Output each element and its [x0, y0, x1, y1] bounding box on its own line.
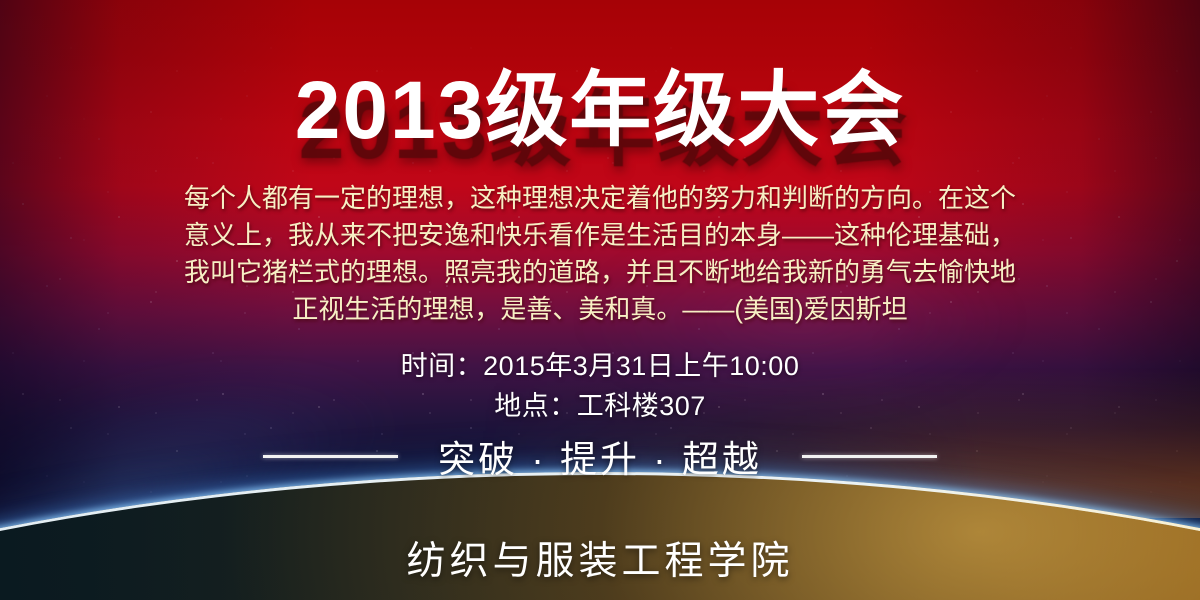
event-details: 时间：2015年3月31日上午10:00 地点：工科楼307 [0, 346, 1200, 426]
poster-content: 2013级年级大会 每个人都有一定的理想，这种理想决定着他的努力和判断的方向。在… [0, 0, 1200, 600]
quote-line-4: 正视生活的理想，是善、美和真。——(美国)爱因斯坦 [150, 291, 1050, 328]
event-time: 时间：2015年3月31日上午10:00 [0, 346, 1200, 386]
quote-line-3: 我叫它猪栏式的理想。照亮我的道路，并且不断地给我新的勇气去愉快地 [150, 254, 1050, 291]
slogan-row: 突破 · 提升 · 超越 [0, 430, 1200, 482]
organization-name: 纺织与服装工程学院 [0, 530, 1200, 586]
page-title: 2013级年级大会 [0, 68, 1200, 154]
quote-line-2: 意义上，我从来不把安逸和快乐看作是生活目的本身——这种伦理基础， [150, 217, 1050, 254]
quote-block: 每个人都有一定的理想，这种理想决定着他的努力和判断的方向。在这个 意义上，我从来… [150, 180, 1050, 328]
event-location: 地点：工科楼307 [0, 386, 1200, 426]
slogan-text: 突破 · 提升 · 超越 [438, 429, 762, 483]
divider-rule-right [802, 455, 937, 458]
poster-canvas: 2013级年级大会 每个人都有一定的理想，这种理想决定着他的努力和判断的方向。在… [0, 0, 1200, 600]
quote-line-1: 每个人都有一定的理想，这种理想决定着他的努力和判断的方向。在这个 [150, 180, 1050, 217]
divider-rule-left [263, 455, 398, 458]
